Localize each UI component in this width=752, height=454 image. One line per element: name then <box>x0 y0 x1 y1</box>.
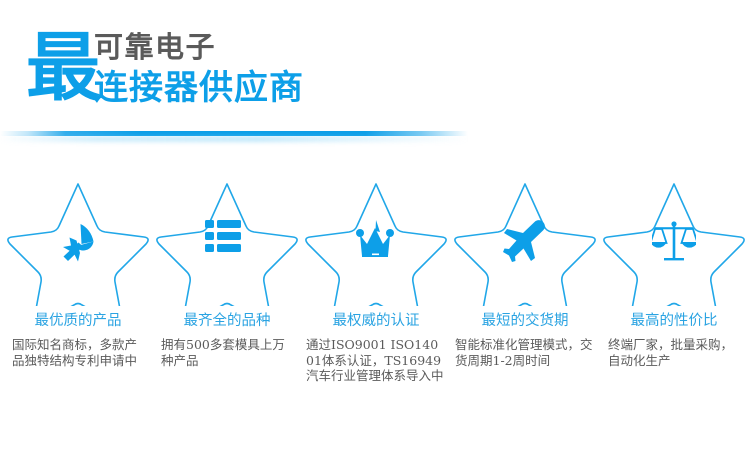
feature-item: 最短的交货期 智能标准化管理模式，交货周期1-2周时间 <box>451 176 599 396</box>
airplane-icon <box>503 220 547 264</box>
star-outline <box>600 176 748 306</box>
feature-description: 终端厂家，批量采购，自动化生产 <box>608 337 740 368</box>
star-outline <box>451 176 599 306</box>
balance-scale-icon <box>652 220 696 264</box>
headline-block: 最 可靠电子 连接器供应商 <box>26 30 446 130</box>
feature-description: 国际知名商标，多款产品独特结构专利申请中 <box>12 337 144 368</box>
headline-emphasis-char: 最 <box>26 31 100 105</box>
feature-item: 最权威的认证 通过ISO9001 ISO14001体系认证，TS16949汽车行… <box>302 176 450 396</box>
headline-divider-glow <box>0 136 468 142</box>
star-outline <box>302 176 450 306</box>
feature-description: 拥有500多套模具上万种产品 <box>161 337 293 368</box>
feature-title: 最短的交货期 <box>482 312 569 330</box>
feature-item: 最优质的产品 国际知名商标，多款产品独特结构专利申请中 <box>4 176 152 396</box>
headline-lines: 可靠电子 连接器供应商 <box>94 30 304 108</box>
crown-icon <box>354 220 398 264</box>
feature-item: 最齐全的品种 拥有500多套模具上万种产品 <box>153 176 301 396</box>
feature-item: 最高的性价比 终端厂家，批量采购，自动化生产 <box>600 176 748 396</box>
feature-description: 智能标准化管理模式，交货周期1-2周时间 <box>455 337 595 368</box>
feature-description: 通过ISO9001 ISO14001体系认证，TS16949汽车行业管理体系导入… <box>306 337 446 384</box>
feature-title: 最齐全的品种 <box>184 312 271 330</box>
feature-title: 最权威的认证 <box>333 312 420 330</box>
list-grid-icon <box>205 220 249 264</box>
promo-banner: 最 可靠电子 连接器供应商 <box>0 0 752 454</box>
star-outline <box>153 176 301 306</box>
headline-line-1: 可靠电子 <box>94 30 304 64</box>
feature-list: 最优质的产品 国际知名商标，多款产品独特结构专利申请中 <box>0 176 752 396</box>
headline-line-2: 连接器供应商 <box>94 68 304 108</box>
star-outline <box>4 176 152 306</box>
feature-title: 最优质的产品 <box>35 312 122 330</box>
feature-title: 最高的性价比 <box>631 312 718 330</box>
satellite-dish-icon <box>56 220 100 264</box>
